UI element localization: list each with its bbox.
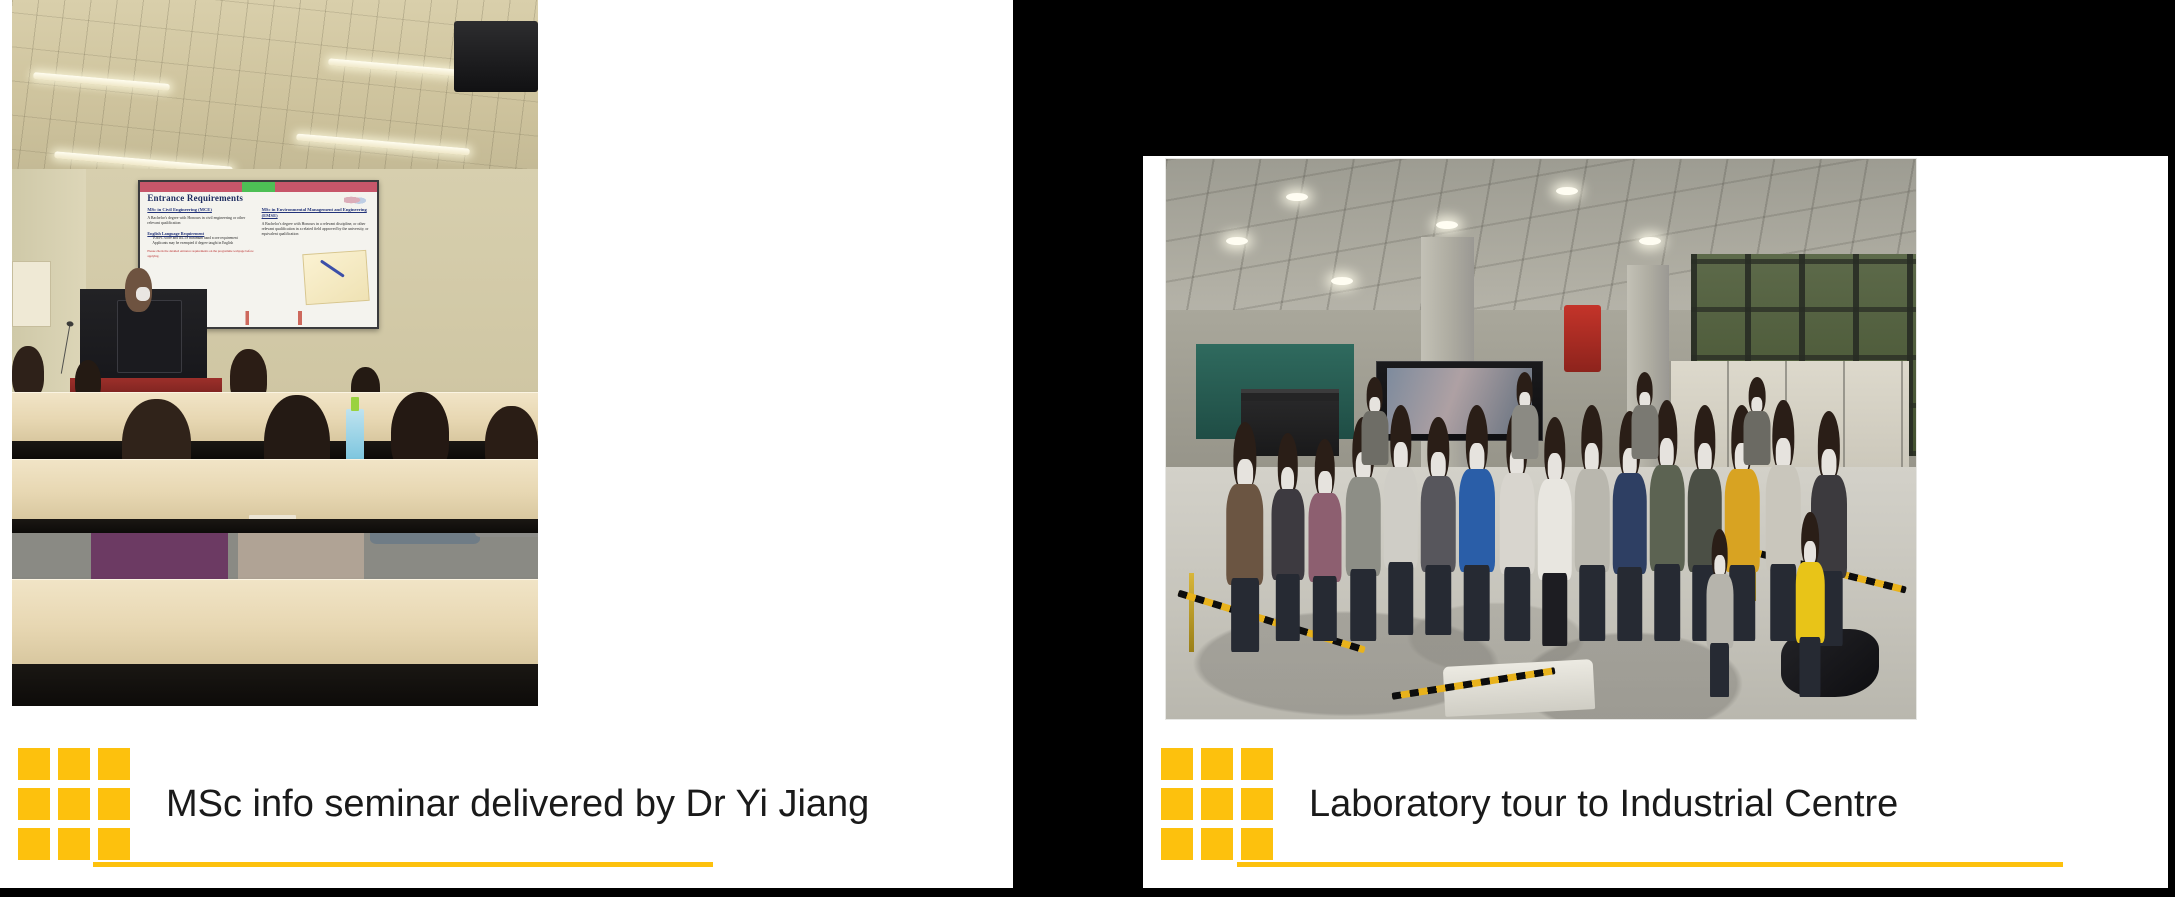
slide-canvas: Entrance Requirements MSc in Civil Engin…	[0, 0, 2175, 897]
person-body	[1706, 574, 1733, 648]
grid-cell	[1201, 748, 1233, 780]
frame-band-right	[2168, 0, 2175, 897]
person-legs	[1617, 567, 1643, 640]
person-body	[1631, 405, 1658, 459]
grid-cell	[58, 828, 90, 860]
slide-column-body: A Bachelor's degree with Honours in a re…	[262, 222, 370, 238]
university-50-anniversary-logo	[344, 194, 368, 206]
slide-footnote: Please check the detailed entrance requi…	[147, 249, 255, 258]
group-photo-crowd	[1166, 159, 1916, 719]
caption-right-underline	[1237, 862, 2063, 867]
labtour-photo-scene	[1166, 159, 1916, 719]
child	[1796, 512, 1825, 697]
person	[1271, 433, 1304, 640]
grid-cell	[18, 828, 50, 860]
person	[1421, 417, 1456, 635]
person-legs	[1800, 637, 1821, 696]
person-body	[1271, 489, 1304, 580]
caption-right-text: Laboratory tour to Industrial Centre	[1309, 785, 1898, 823]
laboratory-tour-photo	[1165, 158, 1917, 720]
slide-footer-logos	[240, 311, 373, 325]
person-legs	[1729, 565, 1755, 640]
person-legs	[1710, 643, 1730, 697]
person-body	[1226, 484, 1264, 585]
person-body	[1309, 493, 1342, 582]
grid-3x3-icon	[1161, 748, 1273, 860]
person-back-row	[1511, 372, 1538, 495]
slide-title: Entrance Requirements	[147, 194, 370, 203]
seminar-photo-scene: Entrance Requirements MSc in Civil Engin…	[12, 0, 538, 706]
grid-cell	[98, 788, 130, 820]
grid-cell	[18, 788, 50, 820]
grid-cell	[98, 748, 130, 780]
caption-left-text: MSc info seminar delivered by Dr Yi Jian…	[166, 785, 869, 823]
grid-cell	[1241, 828, 1273, 860]
grid-3x3-icon	[18, 748, 130, 860]
person-body	[1361, 411, 1388, 465]
person-legs	[1504, 567, 1530, 640]
wall-panel	[12, 261, 51, 327]
person-body	[1796, 562, 1825, 643]
grid-cell	[58, 788, 90, 820]
person-legs	[1275, 574, 1299, 640]
msc-info-seminar-photo: Entrance Requirements MSc in Civil Engin…	[12, 0, 538, 706]
child	[1706, 529, 1733, 697]
caption-left-underline	[93, 862, 713, 867]
lecture-desk	[12, 579, 538, 665]
caption-left: MSc info seminar delivered by Dr Yi Jian…	[18, 748, 869, 860]
grid-cell	[1161, 748, 1193, 780]
person-legs	[1542, 573, 1568, 646]
person-legs	[1231, 578, 1259, 651]
person-legs	[1313, 576, 1337, 641]
slide-columns: MSc in Civil Engineering (MCE) A Bachelo…	[147, 207, 370, 258]
person-legs	[1425, 565, 1451, 635]
frame-band-bottom	[0, 888, 2175, 897]
lectern-monitor	[117, 300, 182, 373]
projector-unit	[454, 21, 538, 92]
slide-column-body: A Bachelor's degree with Honours in civi…	[147, 216, 255, 227]
slide-column-heading: MSc in Environmental Management and Engi…	[262, 207, 370, 219]
desk-shadow	[12, 664, 538, 706]
person-body	[1511, 405, 1538, 459]
grid-cell	[1241, 748, 1273, 780]
grid-cell	[1201, 788, 1233, 820]
person-body	[1537, 479, 1572, 580]
person-back-row	[1631, 372, 1658, 495]
slide-column-heading: MSc in Civil Engineering (MCE)	[147, 207, 255, 213]
slide-bullet: Applicants may be exempted if degree tau…	[152, 241, 255, 246]
lecture-desk	[12, 459, 538, 520]
water-bottle	[346, 409, 364, 465]
person-back-row	[1361, 377, 1388, 500]
slide-notebook-image	[302, 250, 369, 306]
panel-left: Entrance Requirements MSc in Civil Engin…	[0, 0, 1013, 888]
slide-column: MSc in Civil Engineering (MCE) A Bachelo…	[147, 207, 255, 258]
person	[1226, 422, 1264, 652]
person	[1537, 417, 1572, 647]
person-body	[1459, 469, 1495, 572]
person-legs	[1463, 565, 1490, 640]
person	[1575, 405, 1610, 640]
person-legs	[1350, 569, 1376, 641]
grid-cell	[1161, 788, 1193, 820]
person	[1459, 405, 1495, 640]
person-legs	[1388, 562, 1414, 635]
grid-cell	[1161, 828, 1193, 860]
slide-accent-bar	[140, 182, 377, 192]
grid-cell	[98, 828, 130, 860]
person-body	[1744, 411, 1771, 465]
panel-right: Laboratory tour to Industrial Centre	[1143, 156, 2168, 888]
person	[1384, 405, 1419, 635]
frame-band-middle	[1013, 0, 1145, 897]
person-back-row	[1744, 377, 1771, 500]
person-legs	[1770, 564, 1796, 641]
person-legs	[1654, 564, 1680, 641]
person	[1309, 439, 1342, 641]
person-body	[1384, 467, 1419, 568]
person-body	[1575, 469, 1610, 572]
caption-right: Laboratory tour to Industrial Centre	[1161, 748, 1898, 860]
grid-cell	[18, 748, 50, 780]
frame-band-top-right	[1143, 0, 2175, 156]
presenter-face-mask	[136, 287, 150, 302]
grid-cell	[58, 748, 90, 780]
person-legs	[1579, 565, 1605, 640]
grid-cell	[1201, 828, 1233, 860]
person-body	[1421, 476, 1456, 572]
desk-shadow	[12, 519, 538, 533]
grid-cell	[1241, 788, 1273, 820]
